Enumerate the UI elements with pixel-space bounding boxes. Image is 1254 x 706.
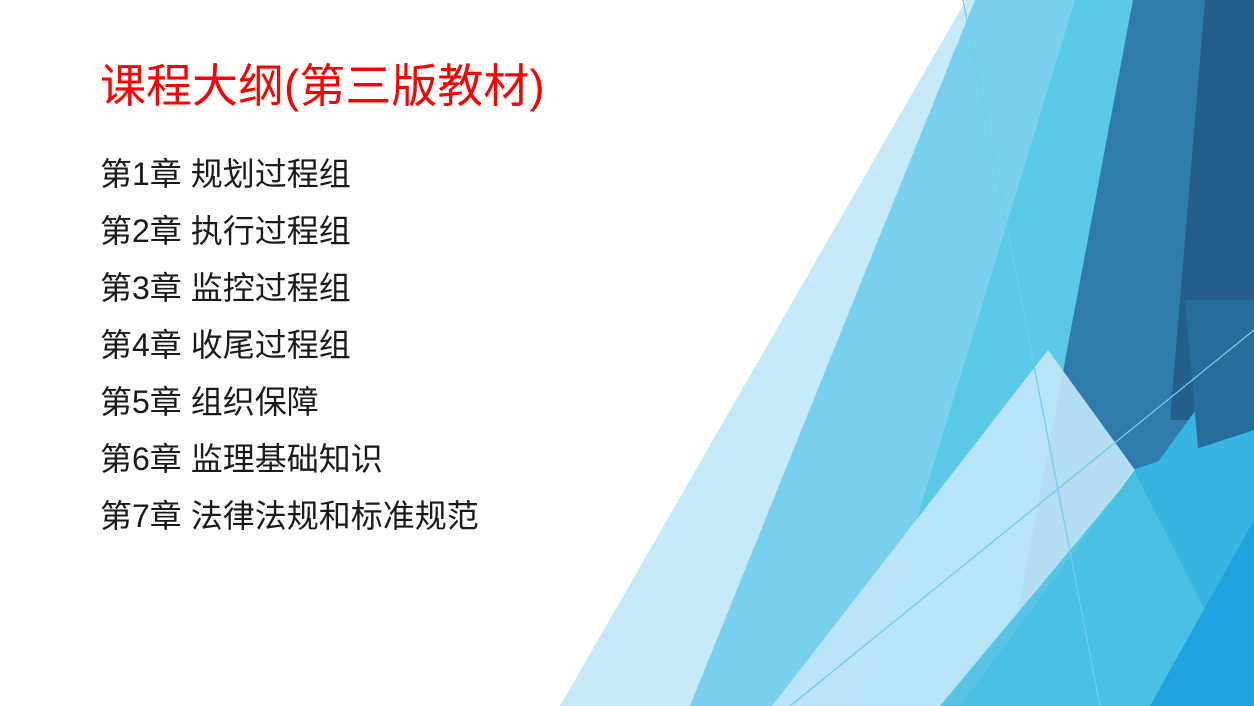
list-item: 第7章 法律法规和标准规范 [100,488,479,545]
list-item: 第1章 规划过程组 [100,146,479,203]
list-item: 第5章 组织保障 [100,374,479,431]
list-item: 第3章 监控过程组 [100,260,479,317]
presentation-slide: 课程大纲(第三版教材) 第1章 规划过程组 第2章 执行过程组 第3章 监控过程… [0,0,1254,706]
page-title: 课程大纲(第三版教材) [100,62,545,112]
list-item: 第2章 执行过程组 [100,203,479,260]
course-outline-list: 第1章 规划过程组 第2章 执行过程组 第3章 监控过程组 第4章 收尾过程组 … [100,146,479,545]
slide-content: 课程大纲(第三版教材) 第1章 规划过程组 第2章 执行过程组 第3章 监控过程… [0,0,1254,706]
list-item: 第4章 收尾过程组 [100,317,479,374]
list-item: 第6章 监理基础知识 [100,431,479,488]
